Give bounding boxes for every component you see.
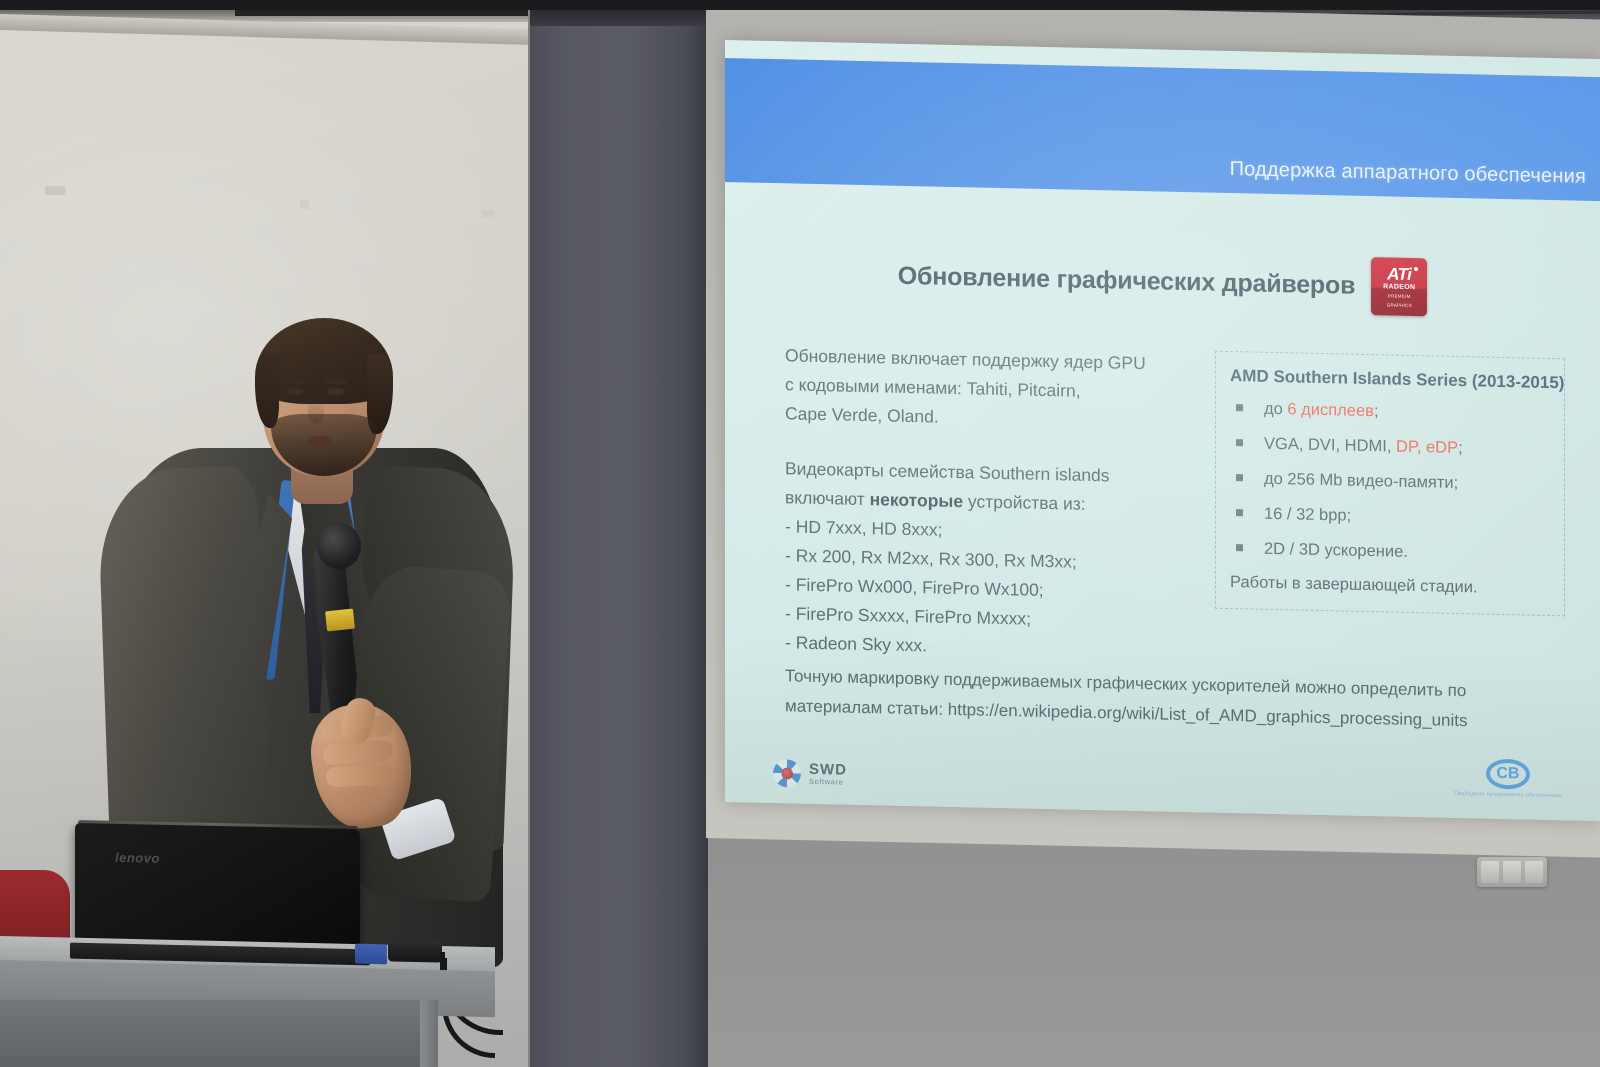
item-post: ; — [1374, 402, 1379, 420]
light-switch-gang-3[interactable] — [1525, 861, 1543, 883]
vga-connector[interactable] — [355, 944, 387, 965]
para2-text-b: устройства из: — [963, 491, 1086, 514]
microphone-yellow-band — [325, 609, 355, 632]
southern-islands-box: AMD Southern Islands Series (2013-2015) … — [1215, 351, 1565, 617]
eye-left — [286, 388, 304, 395]
ati-logo-graphics: GRAPHICS — [1387, 303, 1412, 308]
eyebrow-right — [325, 379, 347, 384]
swd-gear-icon — [773, 759, 801, 788]
partner-logo-caption: Свободное программное обеспечение — [1454, 791, 1562, 799]
para2-bold: некоторые — [870, 489, 963, 511]
wall-mark-3 — [482, 210, 494, 217]
ati-radeon-logo: ATi RADEON PREMIUM GRAPHICS — [1371, 257, 1427, 316]
item-pre: до 256 Mb видео-памяти; — [1264, 470, 1458, 492]
ati-logo-radeon: RADEON — [1383, 283, 1415, 291]
partner-logo-icon: CB — [1486, 759, 1530, 790]
swd-subtitle: Software — [809, 778, 847, 787]
ati-logo-wordmark: ATi — [1387, 265, 1411, 283]
swd-wordmark: SWD Software — [809, 762, 847, 786]
item-highlight: 6 дисплеев — [1287, 400, 1374, 420]
slide-title-row: Обновление графических драйверов ATi RAD… — [725, 243, 1600, 320]
item-pre: до — [1264, 400, 1287, 419]
hair-side-left — [255, 354, 279, 428]
box-list-item: до 256 Mb видео-памяти; — [1230, 468, 1550, 495]
slide-bottom-note: Точную маркировку поддерживаемых графиче… — [785, 661, 1585, 738]
photo-scene: Поддержка аппаратного обеспечения Обновл… — [0, 0, 1600, 1067]
finger-3 — [326, 765, 393, 787]
slide-header-band: Поддержка аппаратного обеспечения — [725, 58, 1600, 201]
box-list-item: 16 / 32 bpp; — [1230, 503, 1550, 530]
wall-mark-2 — [300, 200, 309, 209]
table-front-panel — [0, 1000, 420, 1067]
item-post: ; — [1458, 439, 1463, 457]
wall-column — [530, 0, 708, 1067]
square-bullet-icon — [1236, 509, 1243, 516]
square-bullet-icon — [1236, 439, 1243, 446]
image-top-band — [0, 0, 1600, 10]
table-leg — [420, 1000, 438, 1067]
para2-text-a: включают — [785, 487, 870, 509]
item-pre: 16 / 32 bpp; — [1264, 505, 1351, 525]
box-footer-note: Работы в завершающей стадии. — [1230, 573, 1550, 599]
cable-ferrite-plug — [388, 939, 442, 962]
box-bullet-list: до 6 дисплеев; VGA, DVI, HDMI, DP, eDP; … — [1230, 398, 1550, 565]
light-switch-gang-2[interactable] — [1503, 861, 1521, 883]
partner-logo: CB Свободное программное обеспечение — [1454, 758, 1562, 799]
swd-software-logo: SWD Software — [773, 759, 847, 789]
item-pre: 2D / 3D ускорение. — [1264, 540, 1408, 561]
box-list-item: VGA, DVI, HDMI, DP, eDP; — [1230, 433, 1550, 460]
ati-logo-dot — [1414, 267, 1418, 271]
wall-mark-1 — [45, 186, 65, 195]
square-bullet-icon — [1236, 404, 1243, 411]
item-pre: VGA, DVI, HDMI, — [1264, 435, 1396, 456]
slide-header-title: Поддержка аппаратного обеспечения — [1230, 158, 1600, 201]
slide-title: Обновление графических драйверов — [898, 261, 1356, 300]
square-bullet-icon — [1236, 474, 1243, 481]
mouth — [307, 436, 333, 447]
light-switch-gang-1[interactable] — [1481, 861, 1499, 883]
box-list-item: до 6 дисплеев; — [1230, 398, 1550, 425]
eyebrow-left — [284, 379, 306, 384]
box-list-item: 2D / 3D ускорение. — [1230, 538, 1550, 565]
laptop-brand-logo: lenovo — [115, 850, 160, 866]
eye-right — [327, 388, 345, 395]
laptop-lid[interactable]: lenovo — [75, 823, 360, 955]
slide-left-column: Обновление включает поддержку ядер GPU с… — [785, 341, 1210, 666]
ati-logo-premium: PREMIUM — [1388, 294, 1411, 299]
presentation-slide: Поддержка аппаратного обеспечения Обновл… — [725, 40, 1600, 821]
item-highlight: DP, eDP — [1396, 438, 1458, 457]
light-switch[interactable] — [1477, 857, 1547, 887]
square-bullet-icon — [1236, 544, 1243, 551]
box-title: AMD Southern Islands Series (2013-2015) — [1230, 366, 1550, 393]
